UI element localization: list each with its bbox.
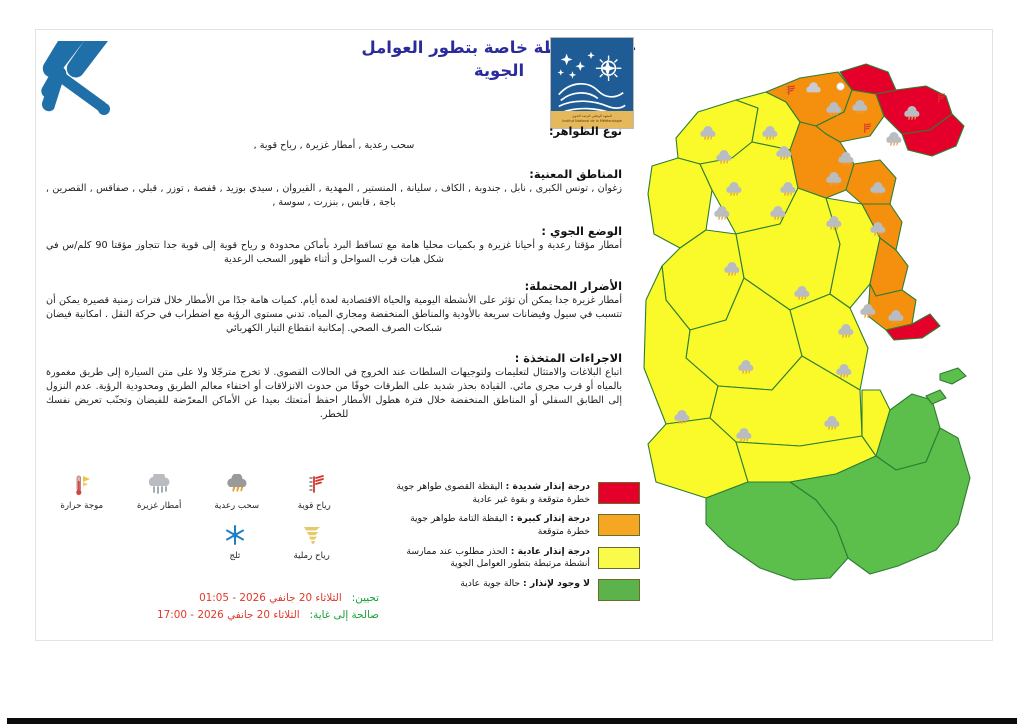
snowflake-icon [202,520,269,550]
section-potential-damage: الأضرار المحتملة: أمطار غزيرة جدا يمكن أ… [46,279,622,337]
alert-level-extreme-desc: اليقظة القصوى طواهر جوية [396,481,502,492]
legend-item-thundercloud: سحب رعدية [203,470,271,511]
validity-until-row: صالحة إلى غاية: الثلاثاء 20 جانفي 2026 -… [49,607,379,624]
legend-item-strong-wind-label: رياح قوية [281,501,349,511]
section-phenomena-body: سحب رعدية , أمطار غزيرة , رياح قوية , [46,139,622,153]
alert-level-extreme-title: درجة إنذار شديدة : [506,481,590,492]
thundercloud-icon [203,470,271,500]
alert-level-normal-text: درجة إنذار عادية : الحذر مطلوب عند ممارس… [355,546,590,571]
alert-level-extreme-text: درجة إنذار شديدة : اليقظة القصوى طواهر ج… [355,481,590,506]
alert-level-normal-desc: الحذر مطلوب عند ممارسة [406,546,507,557]
alert-level-none-text: لا وجود لإنذار : حالة جوية عادية [355,578,590,591]
sun-icon-bizerte-red [837,83,845,91]
alert-level-legend: درجة إنذار شديدة : اليقظة القصوى طواهر ج… [355,481,640,601]
section-measures: الاجراءات المتخذة : اتباع البلاغات والام… [46,351,622,423]
alert-level-normal: درجة إنذار عادية : الحذر مطلوب عند ممارس… [355,546,640,571]
phenomena-icon-legend: رياح قوية سحب رعدية [48,470,348,561]
bottom-black-bar [7,718,1017,724]
heavy-rain-cloud-icon [126,470,194,500]
thundercloud-icon-capbon-s [886,132,901,146]
alert-level-normal-sub: أنشطة مرتبطة بتطور العوامل الجوية [355,558,590,571]
zone-nabeul-orange [846,160,896,204]
legend-item-strong-wind: رياح قوية [281,470,349,511]
validity-update-label: تحيين: [352,590,379,607]
validity-until-label: صالحة إلى غاية: [310,607,379,624]
section-potential-damage-body: أمطار غزيرة جدا يمكن أن تؤثر على الأنشطة… [46,294,622,337]
section-regions-body: زغوان , تونس الكبرى , نابل , جندوبة , ال… [46,182,622,210]
alert-level-high-sub: خطرة متوقعة [355,526,590,539]
section-measures-body: اتباع البلاغات والامتثال لتعليمات ولتوجي… [46,366,622,423]
alert-level-none-desc: حالة جوية عادية [460,578,520,589]
inm-seal-logo: المعهد الوطني للرصد الجوي Institut Natio… [550,37,634,129]
alert-level-extreme-swatch [598,482,640,504]
section-weather-situation-body: أمطار مؤقتا رعدية و أحيانا غزيرة و بكميا… [46,239,622,267]
alert-level-normal-title: درجة إنذار عادية : [511,546,590,557]
legend-item-snow: ثلج [202,520,269,561]
alert-level-high-swatch [598,514,640,536]
legend-item-snow-label: ثلج [202,551,269,561]
legend-item-heavy-rain: أمطار غزيرة [126,470,194,511]
legend-item-thundercloud-label: سحب رعدية [203,501,271,511]
section-weather-situation-heading: الوضع الجوي : [46,224,622,238]
zone-kerkennah-green [940,368,966,384]
alert-level-none-swatch [598,579,640,601]
legend-item-sandstorm: رياح رملية [278,520,345,561]
alert-level-none-title: لا وجود لإنذار : [523,578,590,589]
alert-level-high-desc: اليقظة التامة طواهر جوية [410,513,507,524]
validity-until-value: الثلاثاء 20 جانفي 2026 - 17:00 [157,607,300,624]
tunisia-vigilance-map[interactable] [640,38,995,583]
validity-update-row: تحيين: الثلاثاء 20 جانفي 2026 - 01:05 [49,590,379,607]
alert-level-normal-swatch [598,547,640,569]
legend-item-heatwave-label: موجة حرارة [48,501,116,511]
alert-level-none: لا وجود لإنذار : حالة جوية عادية [355,578,640,601]
legend-item-heatwave: موجة حرارة [48,470,116,511]
alert-level-high-text: درجة إنذار كبيرة : اليقظة التامة طواهر ج… [355,513,590,538]
sandstorm-icon [278,520,345,550]
section-regions-heading: المناطق المعنية: [46,167,622,181]
bulletin-text-column: نوع الظواهر: سحب رعدية , أمطار غزيرة , ر… [46,124,622,431]
alert-level-extreme-sub: خطرة متوقعة و بقوة غير عادية [355,494,590,507]
legend-item-sandstorm-label: رياح رملية [278,551,345,561]
inm-stripes-logo [40,33,140,119]
section-regions: المناطق المعنية: زغوان , تونس الكبرى , ن… [46,167,622,210]
validity-block: تحيين: الثلاثاء 20 جانفي 2026 - 01:05 صا… [49,590,379,623]
section-phenomena: نوع الظواهر: سحب رعدية , أمطار غزيرة , ر… [46,124,622,153]
section-potential-damage-heading: الأضرار المحتملة: [46,279,622,293]
section-measures-heading: الاجراءات المتخذة : [46,351,622,365]
heatwave-thermometer-icon [48,470,116,500]
section-phenomena-heading: نوع الظواهر: [46,124,622,138]
alert-level-high: درجة إنذار كبيرة : اليقظة التامة طواهر ج… [355,513,640,538]
alert-level-high-title: درجة إنذار كبيرة : [510,513,590,524]
validity-update-value: الثلاثاء 20 جانفي 2026 - 01:05 [199,590,342,607]
vigilance-bulletin-page: خارطة يقظة خاصة بتطور العوامل الجوية [0,0,1024,724]
legend-item-heavy-rain-label: أمطار غزيرة [126,501,194,511]
legend-spacer-2 [48,520,115,561]
alert-level-extreme: درجة إنذار شديدة : اليقظة القصوى طواهر ج… [355,481,640,506]
section-weather-situation: الوضع الجوي : أمطار مؤقتا رعدية و أحيانا… [46,224,622,267]
strong-wind-icon [281,470,349,500]
legend-spacer [125,520,192,561]
